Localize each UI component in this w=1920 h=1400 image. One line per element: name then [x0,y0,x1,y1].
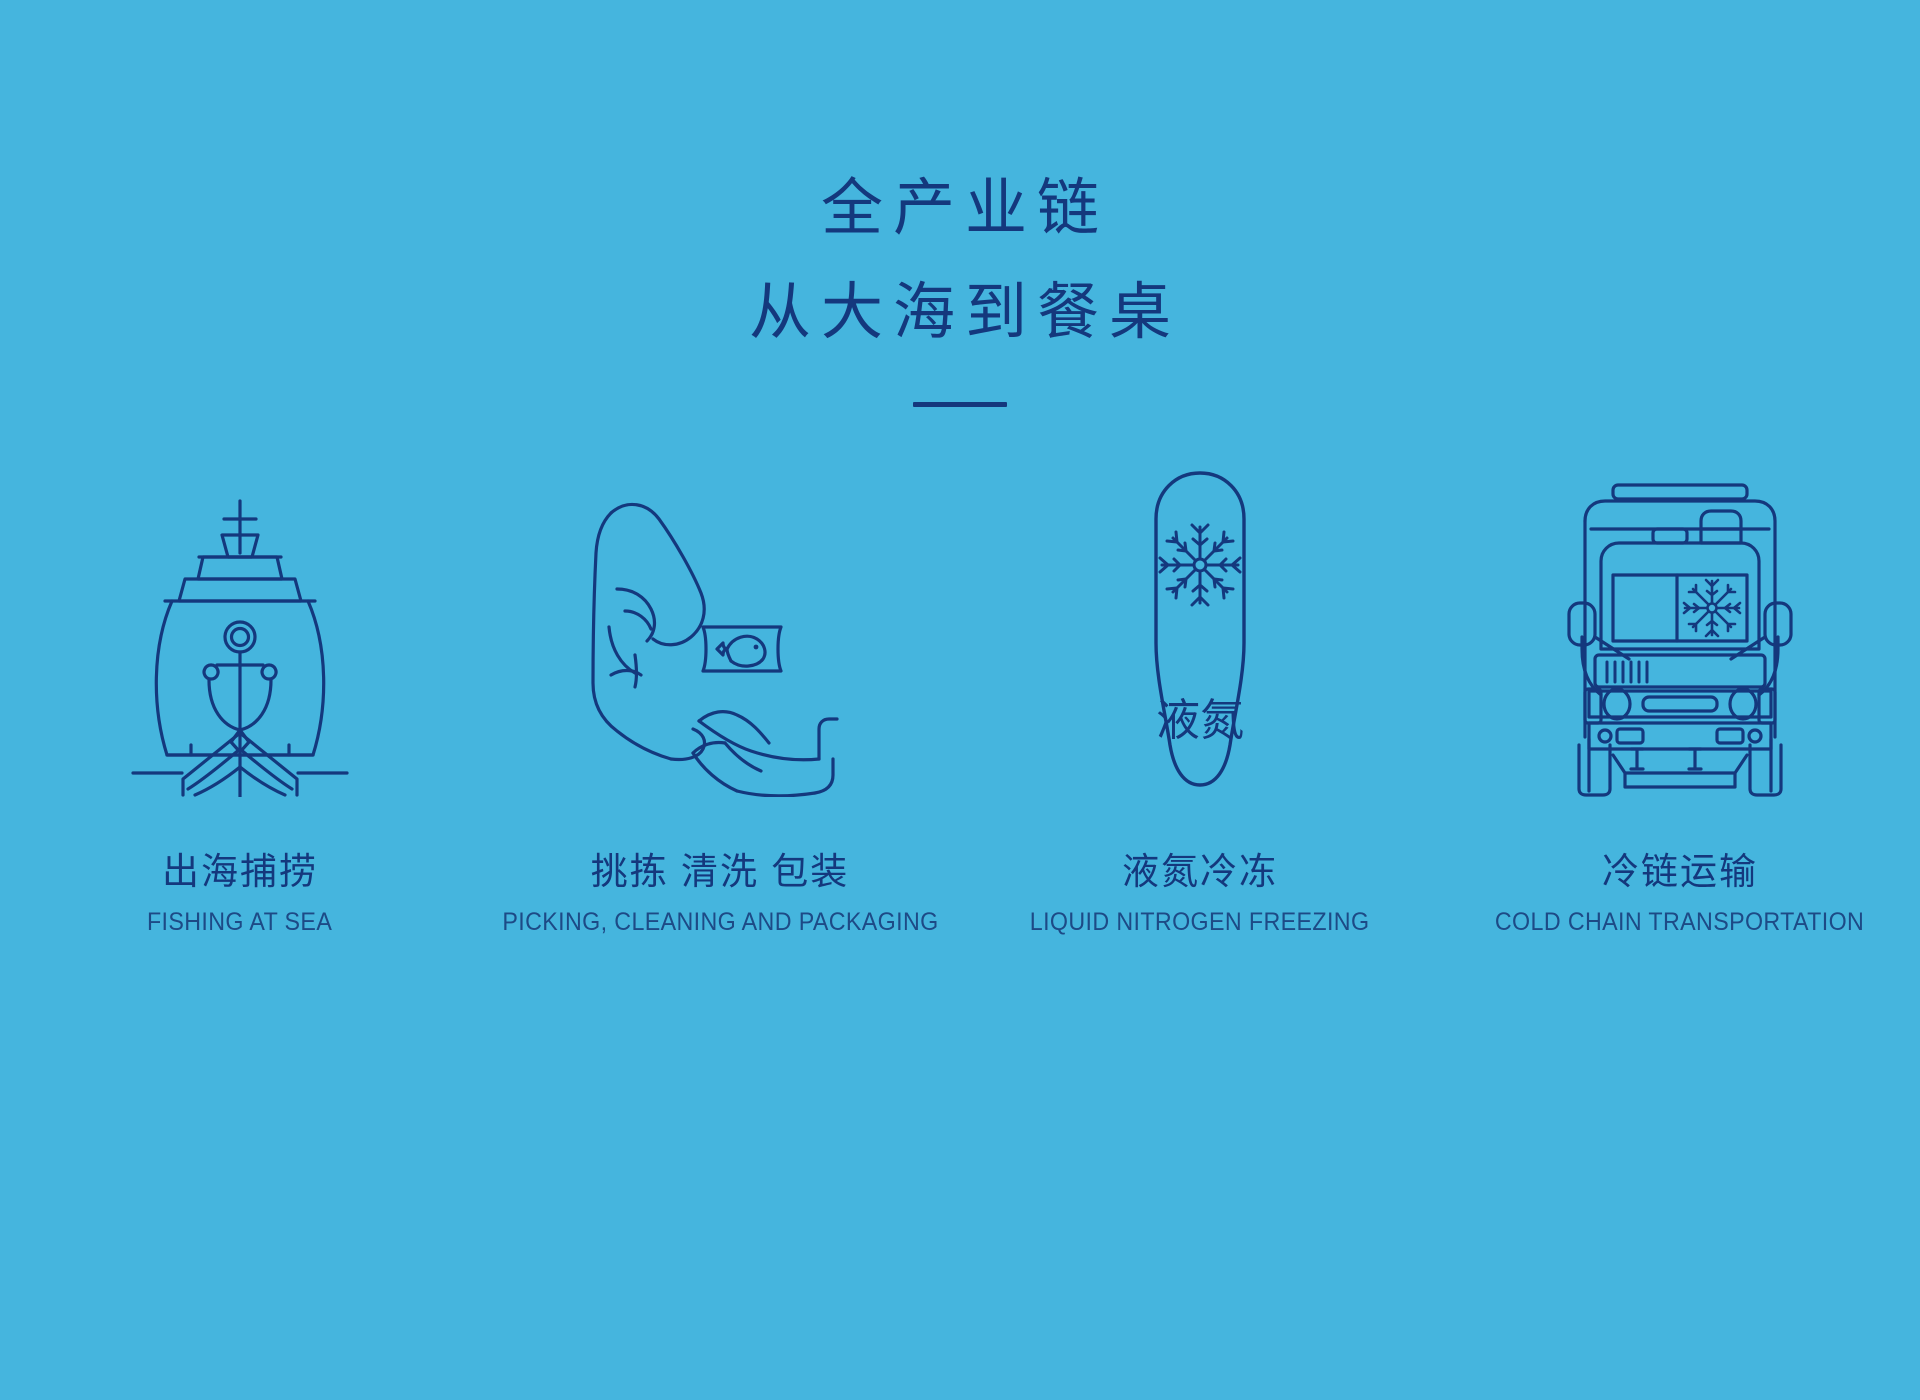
step-label-cn: 挑拣 清洗 包装 [591,851,850,894]
icon-container-boat [125,467,355,797]
labels-picking-cleaning-packaging: 挑拣 清洗 包装 PICKING, CLEANING AND PACKAGING [486,851,955,936]
step-label-en: FISHING AT SEA [147,908,332,937]
step-label-cn: 出海捕捞 [162,851,318,894]
heading-block: 全产业链 从大海到餐桌 [0,178,1920,407]
snowflake-icon [1160,525,1240,605]
step-label-cn: 冷链运输 [1602,851,1758,894]
title-divider [913,402,1007,407]
step-label-en: LIQUID NITROGEN FREEZING [1030,908,1370,937]
page-title-line-1: 全产业链 [811,178,1109,240]
step-label-en: PICKING, CLEANING AND PACKAGING [502,908,938,937]
snowflake-icon [1684,580,1740,636]
step-cold-chain-transportation: 冷链运输 COLD CHAIN TRANSPORTATION [1440,467,1920,936]
step-fishing-at-sea: 出海捕捞 FISHING AT SEA [0,467,480,936]
step-label-cn: 液氮冷冻 [1122,851,1278,894]
fishing-boat-anchor-icon [125,497,355,797]
labels-fishing-at-sea: 出海捕捞 FISHING AT SEA [140,851,339,936]
labels-liquid-nitrogen-freezing: 液氮冷冻 LIQUID NITROGEN FREEZING [1017,851,1382,936]
icon-container-tank: 液氮 [1130,467,1270,797]
icon-container-hands [575,467,865,797]
icon-container-truck [1555,467,1805,797]
refrigerated-truck-icon [1555,477,1805,797]
step-liquid-nitrogen-freezing: 液氮 液氮冷冻 LIQUID NITROGEN FREEZING [960,467,1440,936]
liquid-nitrogen-tank-icon: 液氮 [1130,467,1270,797]
tank-label: 液氮 [1156,696,1244,745]
process-steps-row: 出海捕捞 FISHING AT SEA [0,467,1920,936]
page-title-line-2: 从大海到餐桌 [739,282,1181,344]
hands-fish-package-icon [575,497,865,797]
labels-cold-chain-transportation: 冷链运输 COLD CHAIN TRANSPORTATION [1481,851,1878,936]
step-picking-cleaning-packaging: 挑拣 清洗 包装 PICKING, CLEANING AND PACKAGING [480,467,960,936]
step-label-en: COLD CHAIN TRANSPORTATION [1495,908,1864,937]
infographic-page: 全产业链 从大海到餐桌 [0,0,1920,1400]
